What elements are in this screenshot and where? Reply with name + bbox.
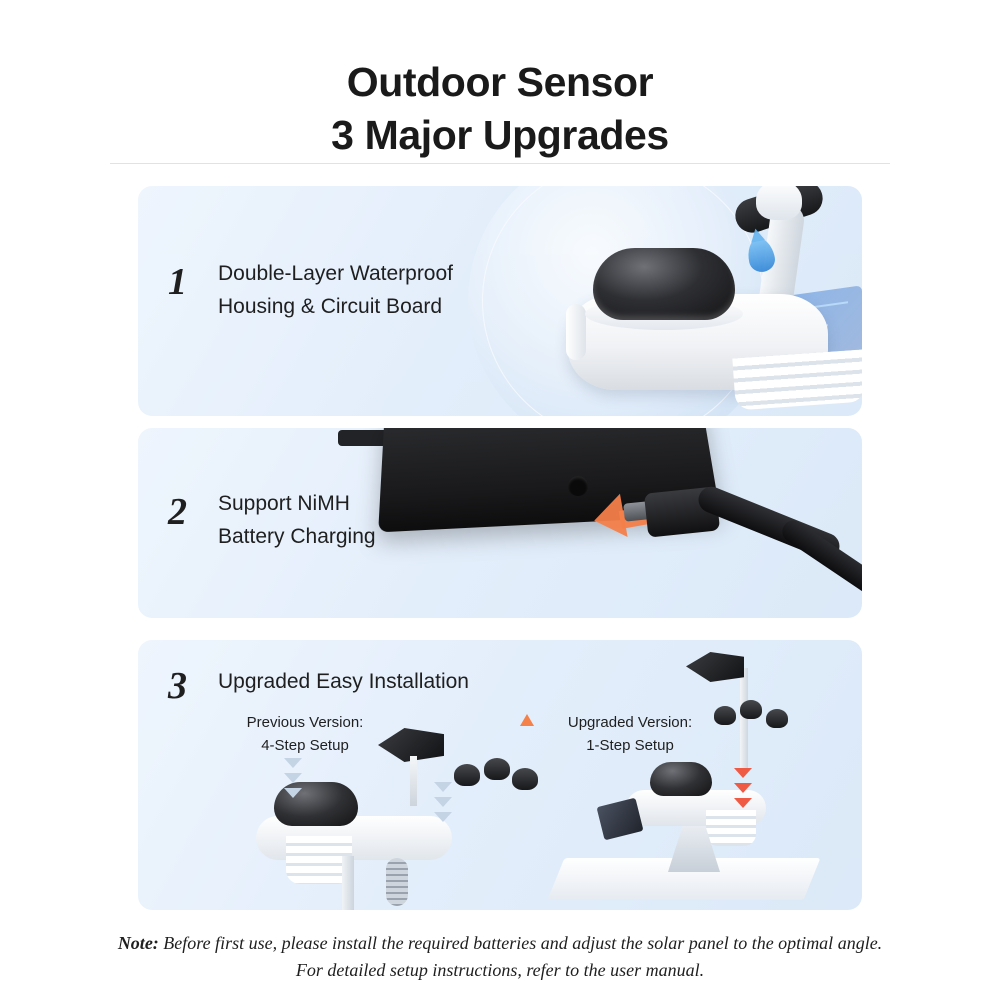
feature-3-text: Upgraded Easy Installation [218,666,469,699]
chevron-down-icon-group-left [284,758,302,803]
product-feature-page: Outdoor Sensor 3 Major Upgrades 1 Double… [0,0,1000,1000]
title-line-2: 3 Major Upgrades [0,109,1000,162]
feature-card-3: Previous Version: 4-Step Setup Upgraded … [138,640,862,910]
upgraded-wind-vane-graphic [686,652,744,682]
chevron-down-icon-group-middle [434,782,452,827]
solar-panel-graphic [596,798,643,841]
sensor-dome-graphic [593,248,735,320]
feature-3-number: 3 [168,664,187,708]
upgraded-radiation-shield-graphic [706,810,756,846]
note-block: Note: Before first use, please install t… [0,930,1000,984]
radiation-shield-graphic [732,350,862,411]
note-divider [110,163,890,164]
feature-2-number: 2 [168,490,187,534]
note-label: Note: [118,933,159,953]
feature-1-number: 1 [168,260,187,304]
sensor-stem-graphic [566,304,586,360]
dc-port-graphic [568,476,588,496]
upgraded-sensor-dome-graphic [650,762,712,796]
previous-probe-graphic [386,858,408,906]
title-line-1: Outdoor Sensor [0,56,1000,109]
anemometer-cup-graphic [756,186,802,220]
chevron-down-icon-group-right [734,768,752,813]
previous-anemometer-graphic [454,758,540,798]
feature-2-text: Support NiMH Battery Charging [218,488,376,553]
upgraded-version-label: Upgraded Version: 1-Step Setup [530,712,730,757]
previous-pole-graphic [342,856,354,910]
feature-1-text: Double-Layer Waterproof Housing & Circui… [218,258,453,323]
feature-card-1: 1 Double-Layer Waterproof Housing & Circ… [138,186,862,416]
previous-mast-graphic [410,756,417,806]
feature-card-2: 2 Support NiMH Battery Charging [138,428,862,618]
note-text: Before first use, please install the req… [163,933,882,980]
page-title: Outdoor Sensor 3 Major Upgrades [0,0,1000,163]
previous-version-label: Previous Version: 4-Step Setup [220,712,390,757]
